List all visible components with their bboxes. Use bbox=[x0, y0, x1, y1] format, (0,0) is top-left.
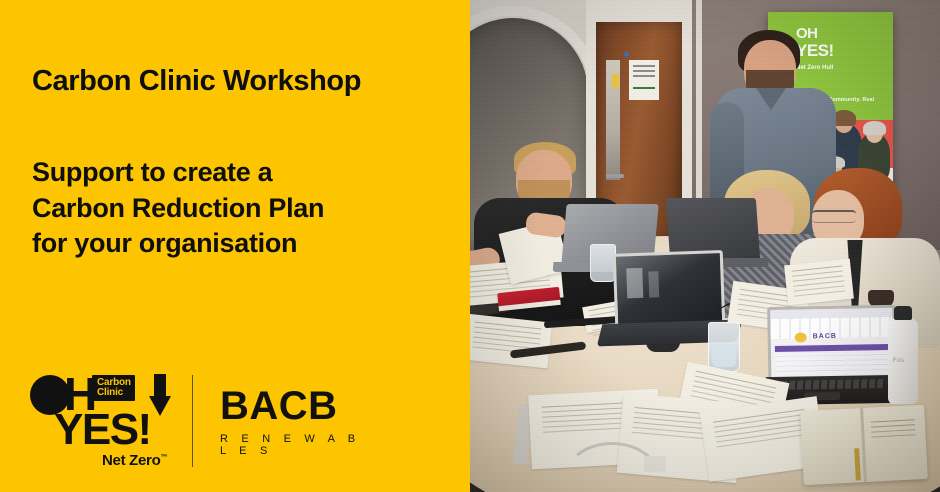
subtitle-line-1: Support to create a bbox=[32, 155, 324, 191]
spreadsheet-rows bbox=[775, 352, 889, 376]
open-notebook bbox=[800, 405, 928, 485]
bacb-subtitle: R E N E W A B L E S bbox=[220, 433, 370, 457]
laptop-screen: BACB bbox=[767, 305, 896, 383]
keys bbox=[773, 379, 886, 390]
paper-sheet bbox=[468, 314, 552, 369]
page-title: Carbon Clinic Workshop bbox=[32, 65, 361, 98]
subtitle-line-3: for your organisation bbox=[32, 226, 324, 262]
water-glass bbox=[708, 322, 740, 372]
door-sticker-blue bbox=[624, 52, 629, 57]
oh-yes-net-zero-logo: H Carbon Clinic YES! Net Zero™ bbox=[30, 372, 192, 470]
spreadsheet-title: BACB bbox=[813, 333, 837, 340]
sun-logo-icon bbox=[795, 332, 807, 342]
laptop-center-open bbox=[613, 250, 720, 328]
notebook-spine bbox=[860, 408, 867, 482]
laptop-screen bbox=[613, 250, 726, 330]
bacb-wordmark: BACB bbox=[220, 386, 370, 426]
net-zero-text: Net Zero bbox=[102, 452, 160, 469]
person-red-haired-woman bbox=[800, 168, 930, 328]
water-bottle: Fos bbox=[888, 318, 918, 404]
power-plug bbox=[644, 456, 666, 472]
yellow-text-panel: Carbon Clinic Workshop Support to create… bbox=[0, 0, 470, 492]
bacb-renewables-logo: BACB R E N E W A B L E S bbox=[220, 386, 370, 457]
trademark-icon: ™ bbox=[160, 454, 167, 461]
handwriting bbox=[871, 419, 915, 422]
subtitle-block: Support to create a Carbon Reduction Pla… bbox=[32, 155, 324, 262]
logo-lockup: H Carbon Clinic YES! Net Zero™ bbox=[30, 372, 360, 470]
glasses-icon bbox=[812, 210, 856, 223]
carbon-clinic-line-2: Clinic bbox=[97, 388, 131, 398]
bottle-label: Fos bbox=[893, 358, 905, 364]
net-zero-tagline: Net Zero™ bbox=[102, 452, 167, 469]
subtitle-line-2: Carbon Reduction Plan bbox=[32, 191, 324, 227]
logo-divider bbox=[192, 375, 193, 467]
screen-reflection bbox=[648, 271, 659, 297]
carbon-clinic-badge: Carbon Clinic bbox=[92, 375, 135, 401]
screen-reflection bbox=[626, 268, 643, 299]
paper-sheet bbox=[784, 259, 854, 306]
spreadsheet-header-band bbox=[775, 344, 889, 352]
door-notice bbox=[629, 60, 659, 100]
arrow-down-icon bbox=[149, 374, 171, 416]
door-sticker-yellow bbox=[612, 74, 619, 88]
event-poster: OH YES! Net Zero Hull Real Support. Real… bbox=[0, 0, 940, 492]
workshop-photo: OH YES! Net Zero Hull Real Support. Real… bbox=[468, 0, 940, 492]
notebook-ribbon bbox=[854, 448, 861, 480]
yes-wordmark: YES! bbox=[54, 408, 151, 452]
